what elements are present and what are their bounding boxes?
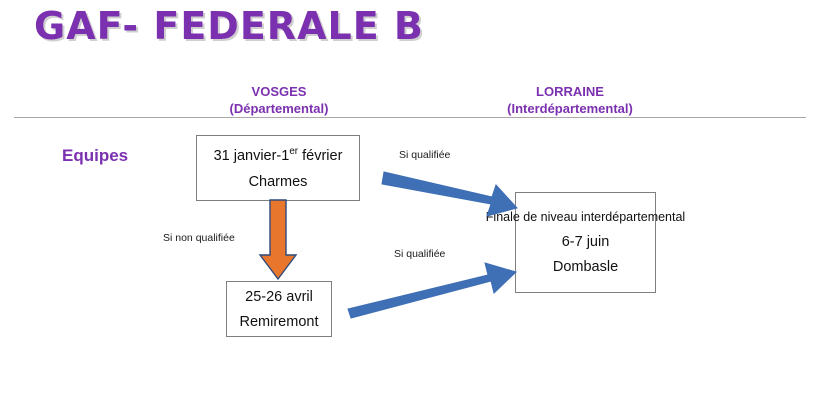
event-box-charmes-place: Charmes: [249, 174, 308, 190]
event-box-finale-date: 6-7 juin: [562, 234, 610, 250]
row-label-equipes: Equipes: [62, 146, 128, 166]
column-header-lorraine-name: LORRAINE: [440, 83, 700, 100]
column-header-vosges: VOSGES (Départemental): [188, 83, 370, 117]
arrow-label-si-non-qualifiee: Si non qualifiée: [163, 232, 235, 244]
event-box-finale-title: Finale de niveau interdépartemental: [486, 210, 685, 225]
header-divider: [14, 117, 806, 118]
column-header-lorraine-scope: (Interdépartemental): [440, 100, 700, 117]
event-box-finale: Finale de niveau interdépartemental 6-7 …: [515, 192, 656, 293]
event-box-charmes: 31 janvier-1er février Charmes: [196, 135, 360, 201]
arrow-label-si-qualifiee-top: Si qualifiée: [399, 149, 450, 161]
slide-canvas: GAF- FEDERALE B VOSGES (Départemental) L…: [0, 0, 820, 402]
page-title: GAF- FEDERALE B: [34, 4, 424, 48]
event-box-charmes-date: 31 janvier-1er février: [214, 146, 343, 164]
blue-arrow-remiremont-to-finale-icon: [348, 263, 516, 318]
event-box-charmes-date-suffix: février: [298, 147, 342, 163]
arrow-layer: [0, 0, 820, 402]
column-header-vosges-scope: (Départemental): [188, 100, 370, 117]
column-header-vosges-name: VOSGES: [188, 83, 370, 100]
event-box-remiremont: 25-26 avril Remiremont: [226, 281, 332, 337]
event-box-remiremont-place: Remiremont: [240, 314, 319, 330]
orange-down-arrow-icon: [260, 200, 296, 279]
event-box-finale-place: Dombasle: [553, 259, 618, 275]
arrow-label-si-qualifiee-bottom: Si qualifiée: [394, 248, 445, 260]
event-box-charmes-date-ordinal: er: [289, 146, 298, 157]
column-header-lorraine: LORRAINE (Interdépartemental): [440, 83, 700, 117]
event-box-charmes-date-prefix: 31 janvier-1: [214, 147, 290, 163]
event-box-remiremont-date: 25-26 avril: [245, 289, 313, 305]
